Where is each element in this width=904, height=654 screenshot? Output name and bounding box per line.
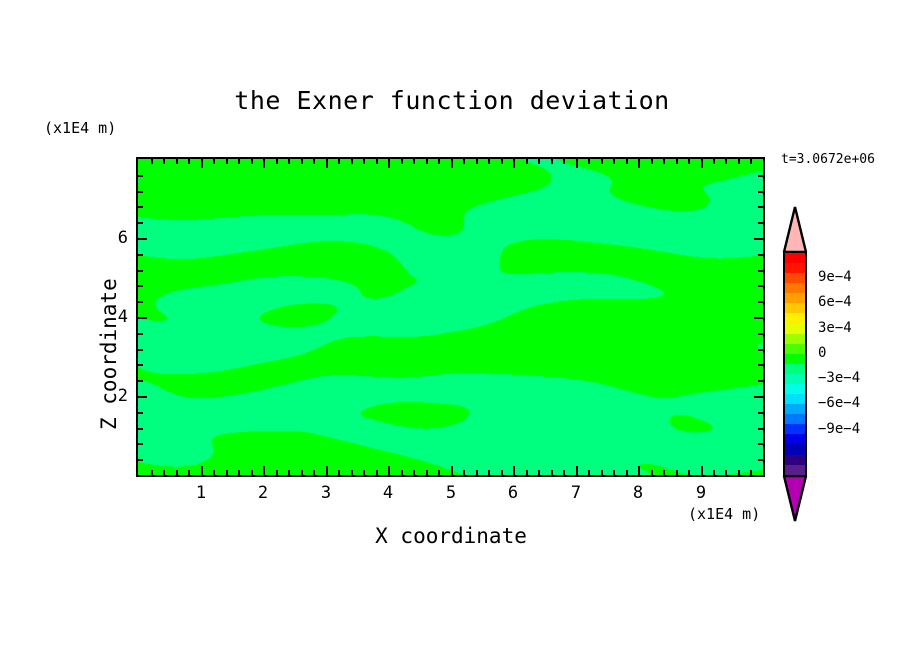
x-axis-minor-tick	[276, 159, 278, 164]
x-axis-minor-tick	[176, 470, 178, 475]
y-axis-major-tick	[138, 317, 147, 319]
x-axis-major-tick	[263, 466, 265, 475]
x-axis-minor-tick	[276, 470, 278, 475]
colorbar-band	[785, 384, 805, 394]
y-axis-minor-tick	[758, 301, 763, 303]
y-axis-unit-label: (x1E4 m)	[44, 119, 116, 137]
x-axis-tick-label: 3	[311, 483, 341, 503]
x-axis-minor-tick	[676, 159, 678, 164]
x-axis-minor-tick	[651, 159, 653, 164]
x-axis-minor-tick	[238, 470, 240, 475]
colorbar-band	[785, 364, 805, 374]
x-axis-major-tick	[701, 466, 703, 475]
y-axis-minor-tick	[138, 175, 143, 177]
x-axis-minor-tick	[476, 470, 478, 475]
x-axis-minor-tick	[538, 470, 540, 475]
y-axis-minor-tick	[758, 459, 763, 461]
x-axis-minor-tick	[588, 470, 590, 475]
y-axis-minor-tick	[138, 349, 143, 351]
x-axis-minor-tick	[251, 159, 253, 164]
x-axis-major-tick	[513, 159, 515, 168]
colorbar-over-arrow	[782, 206, 808, 252]
x-axis-minor-tick	[188, 470, 190, 475]
x-axis-minor-tick	[663, 159, 665, 164]
y-axis-major-tick	[138, 238, 147, 240]
colorbar	[782, 206, 808, 522]
y-axis-minor-tick	[138, 459, 143, 461]
colorbar-band	[785, 263, 805, 273]
x-axis-minor-tick	[313, 470, 315, 475]
x-axis-minor-tick	[476, 159, 478, 164]
x-axis-tick-label: 7	[561, 483, 591, 503]
y-axis-minor-tick	[758, 254, 763, 256]
x-axis-major-tick	[201, 159, 203, 168]
x-axis-unit-label: (x1E4 m)	[688, 505, 760, 523]
colorbar-band	[785, 414, 805, 424]
x-axis-minor-tick	[426, 470, 428, 475]
x-axis-minor-tick	[713, 470, 715, 475]
contour-plot-figure: the Exner function deviation (x1E4 m) (x…	[0, 0, 904, 654]
x-axis-major-tick	[451, 159, 453, 168]
x-axis-minor-tick	[338, 159, 340, 164]
x-axis-minor-tick	[363, 470, 365, 475]
x-axis-major-tick	[701, 159, 703, 168]
x-axis-minor-tick	[626, 470, 628, 475]
x-axis-minor-tick	[551, 159, 553, 164]
x-axis-title: X coordinate	[136, 524, 766, 548]
colorbar-band	[785, 293, 805, 303]
plot-area	[136, 157, 765, 477]
colorbar-band	[785, 374, 805, 384]
x-axis-minor-tick	[713, 159, 715, 164]
y-axis-major-tick	[754, 238, 763, 240]
colorbar-tick-label: −6e−4	[818, 395, 860, 411]
contour-field	[138, 159, 763, 475]
x-axis-tick-label: 4	[373, 483, 403, 503]
colorbar-band	[785, 303, 805, 313]
x-axis-minor-tick	[301, 470, 303, 475]
x-axis-minor-tick	[488, 470, 490, 475]
x-axis-minor-tick	[438, 159, 440, 164]
y-axis-major-tick	[754, 396, 763, 398]
x-axis-major-tick	[638, 159, 640, 168]
x-axis-minor-tick	[601, 159, 603, 164]
x-axis-minor-tick	[563, 159, 565, 164]
x-axis-minor-tick	[501, 159, 503, 164]
colorbar-band	[785, 424, 805, 434]
y-axis-minor-tick	[138, 222, 143, 224]
y-axis-title: Z coordinate	[97, 278, 121, 430]
x-axis-major-tick	[451, 466, 453, 475]
x-axis-minor-tick	[338, 470, 340, 475]
x-axis-minor-tick	[738, 470, 740, 475]
x-axis-minor-tick	[676, 470, 678, 475]
x-axis-minor-tick	[163, 159, 165, 164]
x-axis-minor-tick	[626, 159, 628, 164]
y-axis-minor-tick	[758, 175, 763, 177]
x-axis-minor-tick	[725, 159, 727, 164]
x-axis-major-tick	[576, 159, 578, 168]
colorbar-band	[785, 354, 805, 364]
colorbar-band	[785, 434, 805, 444]
y-axis-minor-tick	[138, 412, 143, 414]
colorbar-band	[785, 324, 805, 334]
y-axis-minor-tick	[758, 333, 763, 335]
x-axis-tick-label: 2	[248, 483, 278, 503]
colorbar-band	[785, 313, 805, 323]
y-axis-minor-tick	[758, 364, 763, 366]
colorbar-tick-label: −3e−4	[818, 370, 860, 386]
colorbar-band	[785, 283, 805, 293]
x-axis-minor-tick	[226, 159, 228, 164]
y-axis-minor-tick	[758, 380, 763, 382]
x-axis-minor-tick	[401, 470, 403, 475]
x-axis-minor-tick	[213, 159, 215, 164]
x-axis-minor-tick	[750, 470, 752, 475]
y-axis-minor-tick	[758, 412, 763, 414]
y-axis-minor-tick	[758, 428, 763, 430]
x-axis-minor-tick	[563, 470, 565, 475]
y-axis-minor-tick	[758, 349, 763, 351]
x-axis-minor-tick	[151, 159, 153, 164]
x-axis-minor-tick	[750, 159, 752, 164]
y-axis-minor-tick	[138, 285, 143, 287]
x-axis-minor-tick	[613, 470, 615, 475]
x-axis-tick-label: 6	[498, 483, 528, 503]
x-axis-minor-tick	[401, 159, 403, 164]
y-axis-minor-tick	[758, 206, 763, 208]
x-axis-tick-label: 8	[623, 483, 653, 503]
y-axis-minor-tick	[138, 301, 143, 303]
x-axis-major-tick	[201, 466, 203, 475]
x-axis-minor-tick	[688, 159, 690, 164]
x-axis-major-tick	[576, 466, 578, 475]
x-axis-minor-tick	[213, 470, 215, 475]
x-axis-minor-tick	[463, 470, 465, 475]
x-axis-minor-tick	[301, 159, 303, 164]
colorbar-tick-label: 9e−4	[818, 269, 852, 285]
y-axis-minor-tick	[138, 254, 143, 256]
y-axis-minor-tick	[138, 270, 143, 272]
y-axis-minor-tick	[758, 285, 763, 287]
x-axis-major-tick	[326, 159, 328, 168]
x-axis-minor-tick	[551, 470, 553, 475]
colorbar-band	[785, 253, 805, 263]
x-axis-major-tick	[326, 466, 328, 475]
colorbar-band	[785, 455, 805, 465]
time-annotation: t=3.0672e+06	[781, 152, 875, 167]
y-axis-minor-tick	[138, 443, 143, 445]
x-axis-minor-tick	[613, 159, 615, 164]
x-axis-minor-tick	[438, 470, 440, 475]
x-axis-minor-tick	[651, 470, 653, 475]
x-axis-minor-tick	[463, 159, 465, 164]
x-axis-minor-tick	[538, 159, 540, 164]
y-axis-minor-tick	[138, 191, 143, 193]
y-axis-minor-tick	[758, 191, 763, 193]
x-axis-minor-tick	[238, 159, 240, 164]
x-axis-minor-tick	[413, 470, 415, 475]
x-axis-tick-label: 5	[436, 483, 466, 503]
y-axis-minor-tick	[758, 270, 763, 272]
x-axis-minor-tick	[163, 470, 165, 475]
x-axis-minor-tick	[501, 470, 503, 475]
x-axis-major-tick	[263, 159, 265, 168]
x-axis-minor-tick	[725, 470, 727, 475]
x-axis-minor-tick	[363, 159, 365, 164]
x-axis-minor-tick	[488, 159, 490, 164]
x-axis-minor-tick	[288, 470, 290, 475]
x-axis-minor-tick	[663, 470, 665, 475]
x-axis-minor-tick	[601, 470, 603, 475]
x-axis-tick-label: 9	[686, 483, 716, 503]
colorbar-tick-label: 6e−4	[818, 294, 852, 310]
page-title: the Exner function deviation	[0, 86, 904, 115]
y-axis-minor-tick	[138, 333, 143, 335]
x-axis-minor-tick	[376, 159, 378, 164]
x-axis-minor-tick	[738, 159, 740, 164]
x-axis-minor-tick	[426, 159, 428, 164]
colorbar-band	[785, 334, 805, 344]
colorbar-band	[785, 404, 805, 414]
x-axis-minor-tick	[351, 159, 353, 164]
x-axis-minor-tick	[351, 470, 353, 475]
x-axis-minor-tick	[151, 470, 153, 475]
x-axis-minor-tick	[176, 159, 178, 164]
x-axis-minor-tick	[251, 470, 253, 475]
colorbar-tick-label: 0	[818, 345, 826, 361]
colorbar-band	[785, 394, 805, 404]
x-axis-major-tick	[388, 159, 390, 168]
y-axis-minor-tick	[758, 443, 763, 445]
colorbar-under-arrow	[782, 476, 808, 522]
x-axis-minor-tick	[226, 470, 228, 475]
x-axis-minor-tick	[188, 159, 190, 164]
y-axis-major-tick	[138, 396, 147, 398]
colorbar-band	[785, 444, 805, 454]
colorbar-band	[785, 273, 805, 283]
colorbar-bands	[783, 251, 807, 477]
x-axis-minor-tick	[288, 159, 290, 164]
colorbar-band	[785, 465, 805, 475]
colorbar-band	[785, 344, 805, 354]
x-axis-major-tick	[638, 466, 640, 475]
x-axis-major-tick	[388, 466, 390, 475]
colorbar-tick-label: −9e−4	[818, 421, 860, 437]
x-axis-minor-tick	[688, 470, 690, 475]
x-axis-minor-tick	[313, 159, 315, 164]
x-axis-tick-label: 1	[186, 483, 216, 503]
y-axis-minor-tick	[138, 364, 143, 366]
x-axis-minor-tick	[588, 159, 590, 164]
y-axis-tick-label: 6	[98, 228, 128, 248]
y-axis-major-tick	[754, 317, 763, 319]
x-axis-minor-tick	[526, 159, 528, 164]
y-axis-minor-tick	[138, 206, 143, 208]
y-axis-minor-tick	[138, 428, 143, 430]
y-axis-minor-tick	[138, 380, 143, 382]
x-axis-minor-tick	[526, 470, 528, 475]
x-axis-minor-tick	[413, 159, 415, 164]
y-axis-minor-tick	[758, 222, 763, 224]
x-axis-major-tick	[513, 466, 515, 475]
colorbar-tick-label: 3e−4	[818, 320, 852, 336]
x-axis-minor-tick	[376, 470, 378, 475]
